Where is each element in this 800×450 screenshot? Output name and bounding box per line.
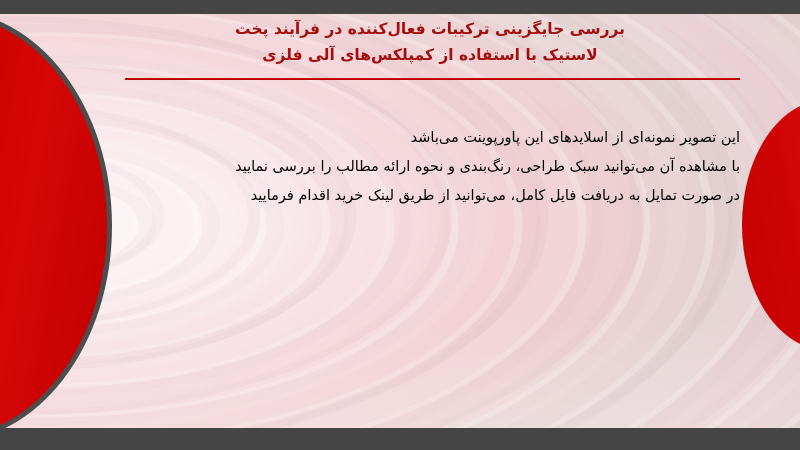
slide-title-line-2: لاستیک با استفاده از کمپلکس‌های آلی فلزی [110, 42, 750, 68]
slide-title-line-1: بررسی جایگزینی ترکیبات فعال‌کننده در فرآ… [110, 16, 750, 42]
title-underline-rule [125, 78, 740, 80]
slide-title: بررسی جایگزینی ترکیبات فعال‌کننده در فرآ… [110, 16, 750, 68]
top-accent-bar [0, 0, 800, 14]
left-red-ellipse-decoration [0, 10, 112, 442]
body-line-3: در صورت تمایل به دریافت فایل کامل، می‌تو… [80, 182, 740, 211]
presentation-slide: بررسی جایگزینی ترکیبات فعال‌کننده در فرآ… [0, 0, 800, 450]
left-ellipse-fill [0, 15, 107, 437]
slide-body-text: این تصویر نمونه‌ای از اسلایدهای این پاور… [80, 124, 740, 211]
body-line-2: با مشاهده آن می‌توانید سبک طراحی، رنگ‌بن… [80, 153, 740, 182]
body-line-1: این تصویر نمونه‌ای از اسلایدهای این پاور… [80, 124, 740, 153]
bottom-accent-bar [0, 428, 800, 450]
